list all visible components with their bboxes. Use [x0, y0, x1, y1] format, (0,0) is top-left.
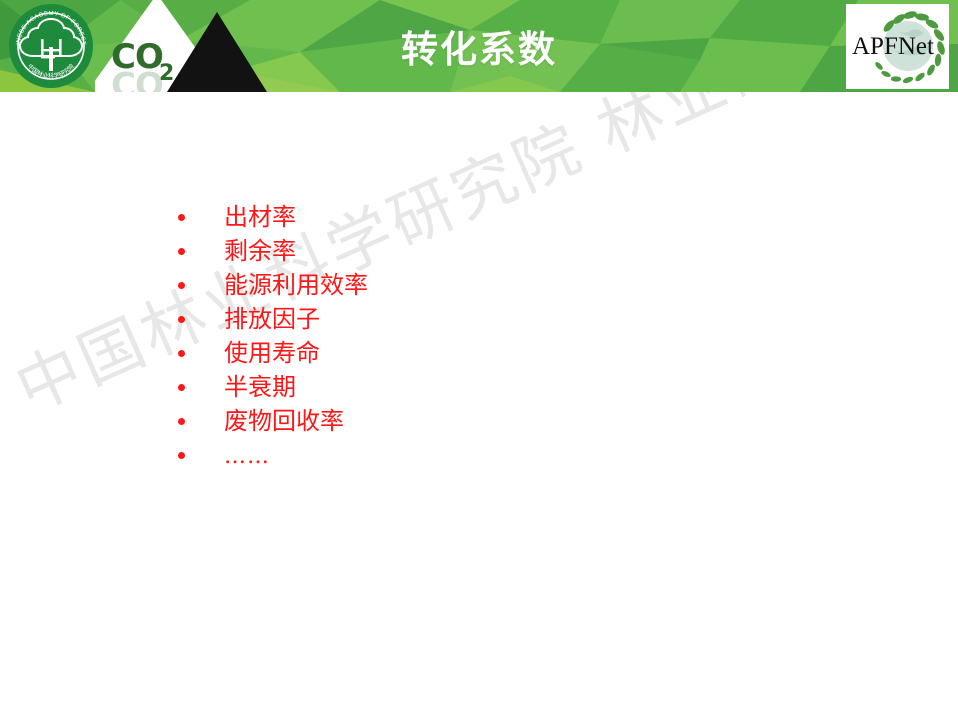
- list-item-label: 废物回收率: [224, 404, 344, 438]
- bullet-dot-icon: [178, 384, 185, 391]
- apfnet-logo: APFNet: [846, 4, 949, 89]
- list-item: 排放因子: [178, 302, 778, 336]
- list-item-label: 能源利用效率: [224, 268, 368, 302]
- list-item: 使用寿命: [178, 336, 778, 370]
- list-item-label: ……: [224, 440, 270, 474]
- list-item: ……: [178, 438, 778, 472]
- bullet-dot-icon: [178, 452, 185, 459]
- list-item: 半衰期: [178, 370, 778, 404]
- bullet-dot-icon: [178, 214, 185, 221]
- bullet-dot-icon: [178, 418, 185, 425]
- bullet-dot-icon: [178, 350, 185, 357]
- co2-mountain-graphic: CO 2 CO: [95, 0, 275, 92]
- list-item: 剩余率: [178, 234, 778, 268]
- list-item-label: 使用寿命: [224, 336, 320, 370]
- bullet-dot-icon: [178, 248, 185, 255]
- list-item-label: 出材率: [224, 200, 296, 234]
- slide-header-banner: CHINESE ACADEMY OF FORESTRY 中国林业科学研究院 CO…: [0, 0, 958, 92]
- caf-logo: CHINESE ACADEMY OF FORESTRY 中国林业科学研究院: [8, 3, 94, 89]
- list-item-label: 排放因子: [224, 302, 320, 336]
- bullet-dot-icon: [178, 316, 185, 323]
- slide-body: 中国林业科学研究院 林业研究所 出材率 剩余率 能源利用效率 排放因子 使用寿命: [0, 92, 958, 718]
- list-item-label: 半衰期: [224, 370, 296, 404]
- conversion-coefficient-list: 出材率 剩余率 能源利用效率 排放因子 使用寿命 半衰期: [178, 200, 778, 472]
- list-item: 废物回收率: [178, 404, 778, 438]
- svg-text:CO: CO: [111, 63, 163, 92]
- list-item-label: 剩余率: [224, 234, 296, 268]
- presentation-slide: CHINESE ACADEMY OF FORESTRY 中国林业科学研究院 CO…: [0, 0, 958, 718]
- bullet-dot-icon: [178, 282, 185, 289]
- list-item: 能源利用效率: [178, 268, 778, 302]
- svg-text:APFNet: APFNet: [852, 33, 934, 60]
- list-item: 出材率: [178, 200, 778, 234]
